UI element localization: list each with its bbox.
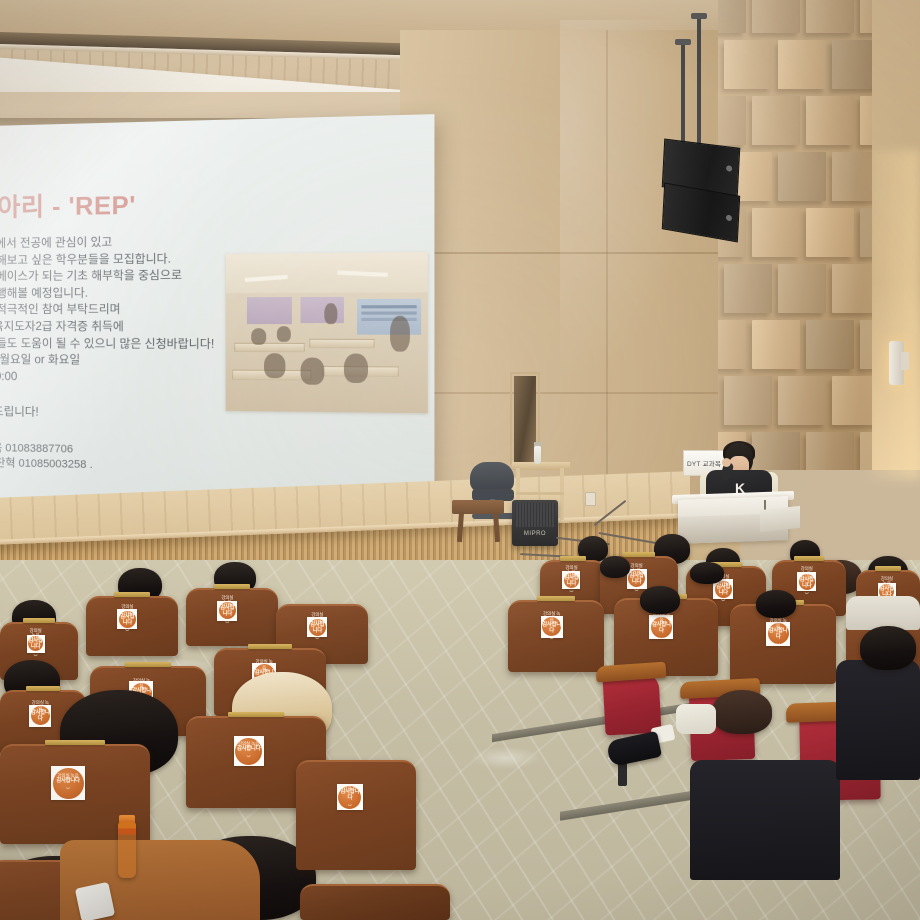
sticker-line-2: 감사합니다 [309, 622, 326, 634]
audience-head [640, 586, 680, 614]
seat-sticker: 강의실 녹음감사합니다⌣ [27, 635, 45, 653]
sticker-line-2: 감사합니다 [237, 746, 260, 752]
smartphone[interactable] [75, 882, 115, 920]
sticker-smile-icon: ⌣ [569, 588, 574, 596]
sticker-badge: 강의실 녹음감사합니다⌣ [31, 706, 50, 725]
seat-sticker: 강의실 녹음감사합니다⌣ [234, 736, 264, 766]
drink-bottle[interactable] [118, 822, 136, 878]
seat-sticker: 강의실 녹음감사합니다⌣ [797, 572, 816, 591]
sticker-line-2: 감사합니다 [799, 577, 815, 589]
seat-rows: 강의실 녹음감사합니다⌣강의실 녹음감사합니다⌣강의실 녹음감사합니다⌣강의실 … [0, 0, 920, 920]
audience-body [836, 660, 920, 780]
sticker-badge: 강의실 녹음감사합니다⌣ [28, 636, 43, 651]
sticker-smile-icon: ⌣ [347, 802, 352, 810]
sticker-badge: 강의실 녹음감사합니다⌣ [628, 570, 645, 587]
sticker-smile-icon: ⌣ [315, 635, 320, 643]
tote-bag [676, 704, 716, 734]
seat-sticker: 강의실 녹음감사합니다⌣ [627, 569, 647, 589]
seat-nameplate [125, 662, 171, 667]
sticker-line-2: 감사합니다 [31, 710, 50, 722]
sticker-smile-icon: ⌣ [549, 635, 554, 643]
sticker-smile-icon: ⌣ [634, 587, 639, 595]
sticker-line-2: 감사합니다 [119, 614, 136, 626]
seat-nameplate [45, 740, 105, 745]
seat-nameplate [214, 584, 251, 589]
sticker-line-1: 강의실 녹음 [542, 611, 561, 621]
sticker-badge: 강의실 녹음감사합니다⌣ [542, 617, 561, 636]
sticker-line-2: 감사합니다 [28, 638, 43, 650]
seat-sticker: 강의실 녹음감사합니다⌣ [562, 571, 580, 589]
audience-body [690, 760, 840, 880]
seat-nameplate [794, 556, 824, 561]
sticker-badge: 강의실 녹음감사합니다⌣ [651, 617, 672, 638]
sticker-smile-icon: ⌣ [225, 619, 230, 627]
sticker-line-2: 감사합니다 [338, 789, 361, 801]
auditorium-seat[interactable] [296, 760, 416, 870]
sticker-line-2: 감사합니다 [56, 778, 79, 784]
sticker-line-1: 강의실 녹음 [219, 595, 236, 605]
seat-sticker: 강의실 녹음감사합니다⌣ [766, 622, 790, 646]
sticker-line-1: 강의실 녹음 [799, 566, 815, 576]
audience-head [600, 556, 630, 578]
sticker-badge: 강의실 녹음감사합니다⌣ [219, 602, 236, 619]
sticker-badge: 강의실 녹음감사합니다⌣ [53, 768, 84, 799]
seat-sticker: 강의실 녹음감사합니다⌣ [649, 615, 673, 639]
seat-nameplate [875, 566, 901, 571]
sticker-smile-icon: ⌣ [659, 635, 664, 643]
seat-sticker: 강의실 녹음감사합니다⌣ [541, 616, 563, 638]
sticker-badge: 강의실 녹음감사합니다⌣ [309, 619, 326, 636]
sticker-line-2: 감사합니다 [219, 605, 236, 617]
sticker-smile-icon: ⌣ [721, 597, 726, 605]
seat-nameplate [23, 618, 54, 623]
seat-nameplate [623, 552, 654, 557]
sticker-badge: 강의실 녹음감사합니다⌣ [338, 786, 361, 809]
audience-head [712, 690, 772, 734]
sticker-smile-icon: ⌣ [33, 652, 38, 660]
seat-nameplate [26, 686, 60, 691]
sticker-badge: 강의실 녹음감사합니다⌣ [768, 623, 789, 644]
sticker-line-1: 강의실 녹음 [564, 565, 579, 575]
sticker-line-1: 강의실 녹음 [879, 576, 894, 586]
sticker-line-1: 강의실 녹음 [628, 563, 645, 573]
sticker-badge: 강의실 녹음감사합니다⌣ [799, 574, 815, 590]
audience-head [756, 590, 796, 618]
audience-head [690, 562, 724, 584]
sticker-line-2: 감사합니다 [628, 573, 645, 585]
sticker-smile-icon: ⌣ [246, 753, 251, 761]
sticker-line-2: 감사합니다 [768, 628, 789, 640]
seat-nameplate [560, 556, 586, 561]
seat-sticker: 강의실 녹음감사합니다⌣ [307, 617, 327, 637]
audience-body [846, 596, 920, 630]
sticker-smile-icon: ⌣ [66, 785, 71, 793]
seat-cushion[interactable] [602, 673, 661, 736]
sticker-line-1: 강의실 녹음 [119, 604, 136, 614]
sticker-smile-icon: ⌣ [776, 641, 781, 649]
sticker-line-2: 감사합니다 [651, 622, 672, 634]
sticker-badge: 강의실 녹음감사합니다⌣ [564, 573, 579, 588]
audience-head [860, 626, 916, 670]
auditorium-seat[interactable] [300, 884, 450, 920]
sticker-line-1: 강의실 녹음 [254, 659, 275, 669]
seat-sticker: 강의실 녹음감사합니다⌣ [51, 766, 85, 800]
sticker-badge: 강의실 녹음감사합니다⌣ [715, 581, 732, 598]
sticker-line-1: 강의실 녹음 [309, 612, 326, 622]
seat-nameplate [248, 644, 293, 649]
sticker-line-1: 강의실 녹음 [28, 628, 43, 638]
sticker-line-1: 강의실 녹음 [768, 618, 789, 628]
sticker-smile-icon: ⌣ [125, 627, 130, 635]
seat-sticker: 강의실 녹음감사합니다⌣ [117, 609, 137, 629]
seat-sticker: 강의실 녹음감사합니다⌣ [337, 784, 363, 810]
seat-sticker: 강의실 녹음감사합니다⌣ [29, 705, 51, 727]
sticker-smile-icon: ⌣ [804, 590, 809, 598]
sticker-line-1: 강의실 녹음 [131, 678, 152, 688]
sticker-line-2: 감사합니다 [542, 622, 561, 634]
seat-sticker: 강의실 녹음감사합니다⌣ [217, 601, 237, 621]
sticker-line-1: 강의실 녹음 [31, 700, 50, 710]
sticker-badge: 강의실 녹음감사합니다⌣ [235, 738, 262, 765]
sticker-line-2: 감사합니다 [564, 575, 579, 587]
seat-nameplate [114, 592, 151, 597]
auditorium-photo: /*panels injected*/ 동아리 - 'REP' REP에서 전공… [0, 0, 920, 920]
sticker-badge: 강의실 녹음감사합니다⌣ [119, 611, 136, 628]
seat-nameplate [537, 596, 575, 601]
sticker-smile-icon: ⌣ [38, 723, 43, 731]
sticker-line-2: 감사합니다 [715, 584, 732, 596]
seat-nameplate [228, 712, 284, 717]
